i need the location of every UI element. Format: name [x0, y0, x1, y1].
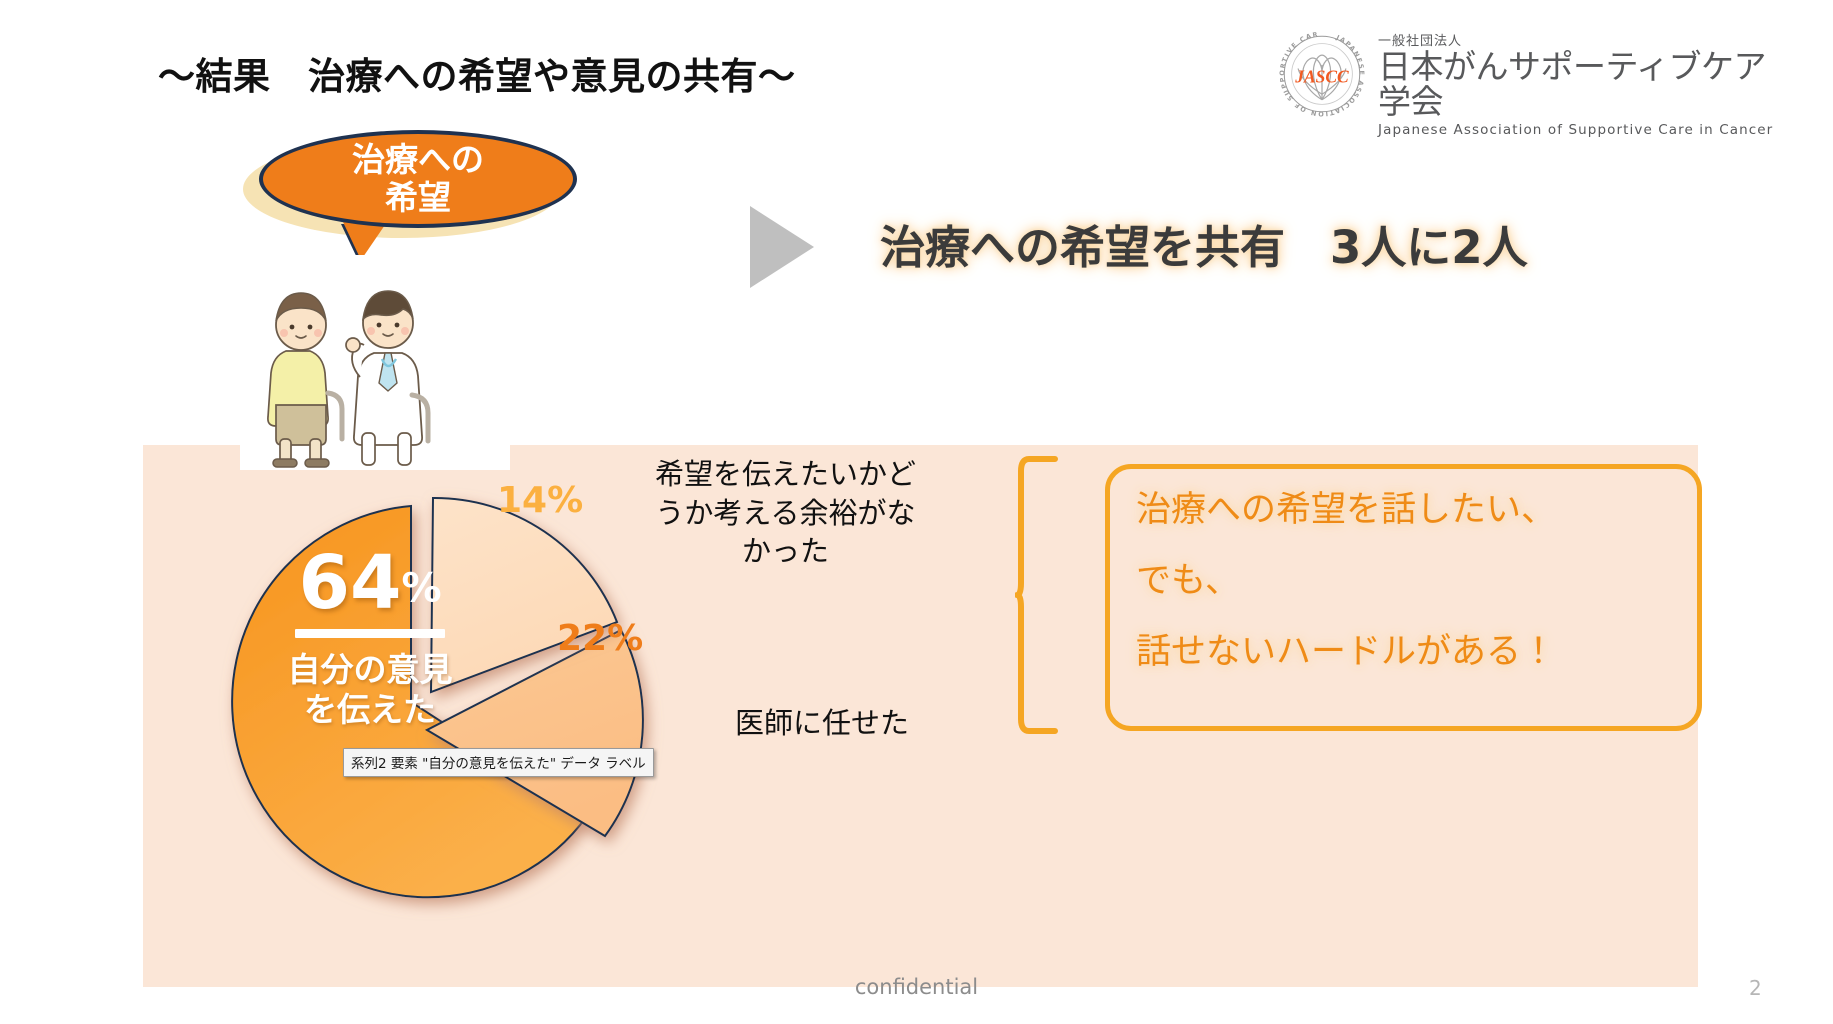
logo-line-2: 日本がんサポーティブケア学会: [1378, 50, 1798, 120]
jascc-logo: JAPANESE ASSOCIATION OF SUPPORTIVE CARE …: [1276, 24, 1801, 124]
chart-element-tooltip: 系列2 要素 "自分の意見を伝えた" データ ラベル: [343, 748, 654, 777]
speech-bubble-body: 治療への 希望: [259, 130, 577, 228]
pie-category-label-doctor: 医師に任せた: [735, 700, 909, 742]
logo-text-block: 一般社団法人 日本がんサポーティブケア学会 Japanese Associati…: [1378, 30, 1798, 138]
headline-text: 治療への希望を共有 3人に2人: [880, 211, 1528, 276]
triangle-right-icon: [750, 206, 814, 288]
page-title: 〜結果 治療への希望や意見の共有〜: [158, 46, 796, 100]
pie-category-label-no-room: 希望を伝えたいかど うか考える余裕がな かった: [613, 455, 958, 571]
conclusion-callout: 治療への希望を話したい、 でも、 話せないハードルがある！: [1105, 464, 1702, 731]
curly-bracket-icon: [1015, 455, 1061, 735]
speech-bubble-text: 治療への 希望: [352, 141, 484, 218]
callout-line-3: 話せないハードルがある！: [1136, 635, 1671, 670]
svg-text:JASCC: JASCC: [1294, 66, 1349, 86]
callout-line-1: 治療への希望を話したい、: [1136, 493, 1671, 528]
patient-doctor-illustration: [240, 255, 510, 470]
logo-line-3: Japanese Association of Supportive Care …: [1378, 122, 1798, 138]
slide-canvas: 〜結果 治療への希望や意見の共有〜 JAPANESE ASSOCIATION O…: [0, 0, 1833, 1024]
speech-bubble: 治療への 希望: [243, 130, 583, 250]
jascc-emblem-icon: JAPANESE ASSOCIATION OF SUPPORTIVE CARE …: [1276, 28, 1368, 120]
footer-confidential: confidential: [0, 975, 1833, 999]
callout-line-2: でも、: [1136, 564, 1671, 599]
page-number: 2: [1749, 976, 1762, 1000]
